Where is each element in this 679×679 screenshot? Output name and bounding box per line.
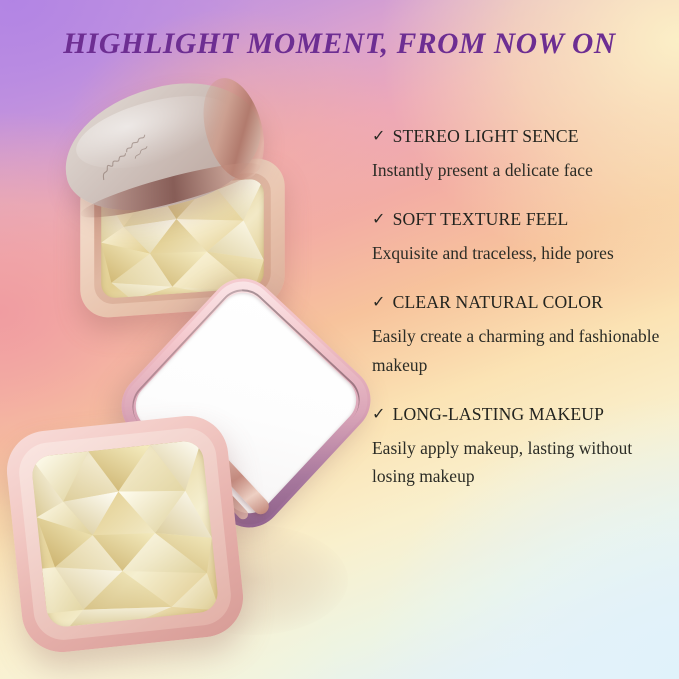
check-icon: ✓	[372, 129, 386, 145]
check-icon: ✓	[372, 212, 386, 228]
feature-heading: ✓ LONG-LASTING MAKEUP	[372, 404, 672, 426]
top-compact-product-image	[62, 88, 302, 318]
feature-body-text: Instantly present a delicate face	[372, 156, 672, 184]
feature-item: ✓ SOFT TEXTURE FEEL Exquisite and tracel…	[372, 209, 672, 267]
feature-heading: ✓ STEREO LIGHT SENCE	[372, 126, 672, 148]
feature-heading: ✓ CLEAR NATURAL COLOR	[372, 292, 672, 314]
faceted-powder-texture-icon	[30, 439, 219, 628]
feature-heading-text: STEREO LIGHT SENCE	[393, 126, 579, 148]
page-title: HIGHLIGHT MOMENT, FROM NOW ON	[0, 28, 679, 61]
feature-item: ✓ LONG-LASTING MAKEUP Easily apply makeu…	[372, 404, 672, 490]
feature-heading-text: LONG-LASTING MAKEUP	[393, 404, 605, 426]
feature-item: ✓ CLEAR NATURAL COLOR Easily create a ch…	[372, 292, 672, 378]
check-icon: ✓	[372, 295, 386, 311]
feature-body-text: Exquisite and traceless, hide pores	[372, 239, 672, 267]
check-icon: ✓	[372, 407, 386, 423]
feature-item: ✓ STEREO LIGHT SENCE Instantly present a…	[372, 126, 672, 184]
feature-heading-text: SOFT TEXTURE FEEL	[393, 209, 569, 231]
bottom-compact-case	[3, 412, 247, 656]
bottom-compact-powder-pan	[30, 439, 219, 628]
bottom-compact-product-image	[8, 305, 358, 655]
feature-heading: ✓ SOFT TEXTURE FEEL	[372, 209, 672, 231]
feature-heading-text: CLEAR NATURAL COLOR	[393, 292, 603, 314]
feature-list: ✓ STEREO LIGHT SENCE Instantly present a…	[372, 126, 672, 490]
product-poster: HIGHLIGHT MOMENT, FROM NOW ON	[0, 0, 679, 679]
feature-body-text: Easily create a charming and fashionable…	[372, 322, 672, 378]
feature-body-text: Easily apply makeup, lasting without los…	[372, 434, 672, 490]
